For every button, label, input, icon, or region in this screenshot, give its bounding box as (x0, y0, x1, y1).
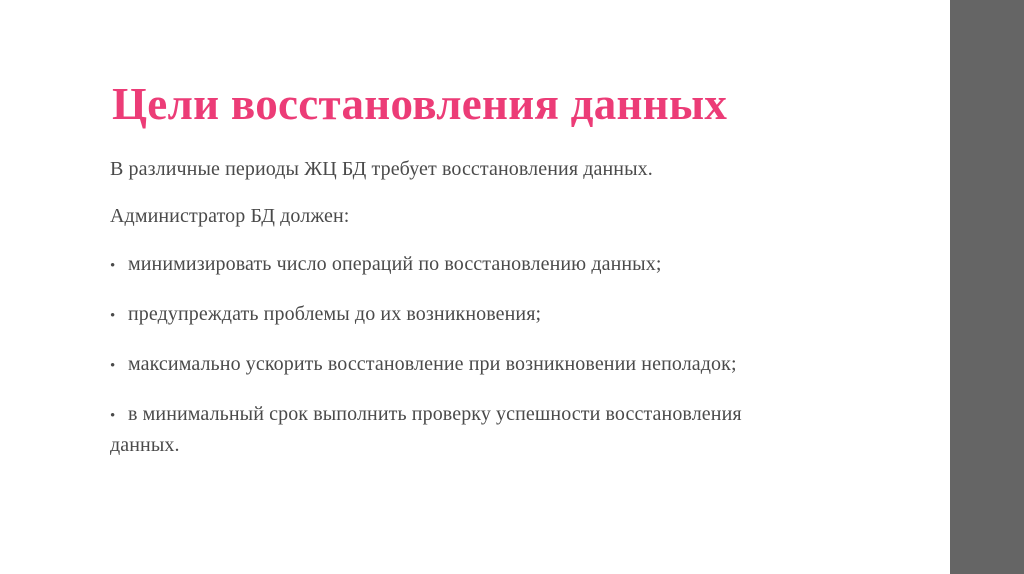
slide-body: В различные периоды ЖЦ БД требует восста… (110, 156, 800, 479)
bullet-dot-icon: • (110, 352, 128, 381)
list-item-label: в минимальный срок выполнить проверку ус… (110, 403, 742, 456)
list-item: •в минимальный срок выполнить проверку у… (110, 400, 800, 460)
list-item-label: предупреждать проблемы до их возникновен… (128, 303, 541, 325)
list-item: •минимизировать число операций по восста… (110, 250, 800, 281)
body-paragraph-1: В различные периоды ЖЦ БД требует восста… (110, 156, 800, 182)
list-item-label: максимально ускорить восстановление при … (128, 353, 737, 375)
objectives-list: •минимизировать число операций по восста… (110, 250, 800, 460)
page-title: Цели восстановления данных (112, 78, 892, 130)
bullet-dot-icon: • (110, 402, 128, 431)
body-paragraph-2: Администратор БД должен: (110, 203, 800, 229)
bullet-dot-icon: • (110, 252, 128, 281)
list-item-label: минимизировать число операций по восстан… (128, 253, 661, 275)
slide-canvas: Цели восстановления данных В различные п… (0, 0, 1024, 574)
list-item: •предупреждать проблемы до их возникнове… (110, 300, 800, 331)
list-item: •максимально ускорить восстановление при… (110, 350, 800, 381)
bullet-dot-icon: • (110, 302, 128, 331)
right-side-band (950, 0, 1024, 574)
